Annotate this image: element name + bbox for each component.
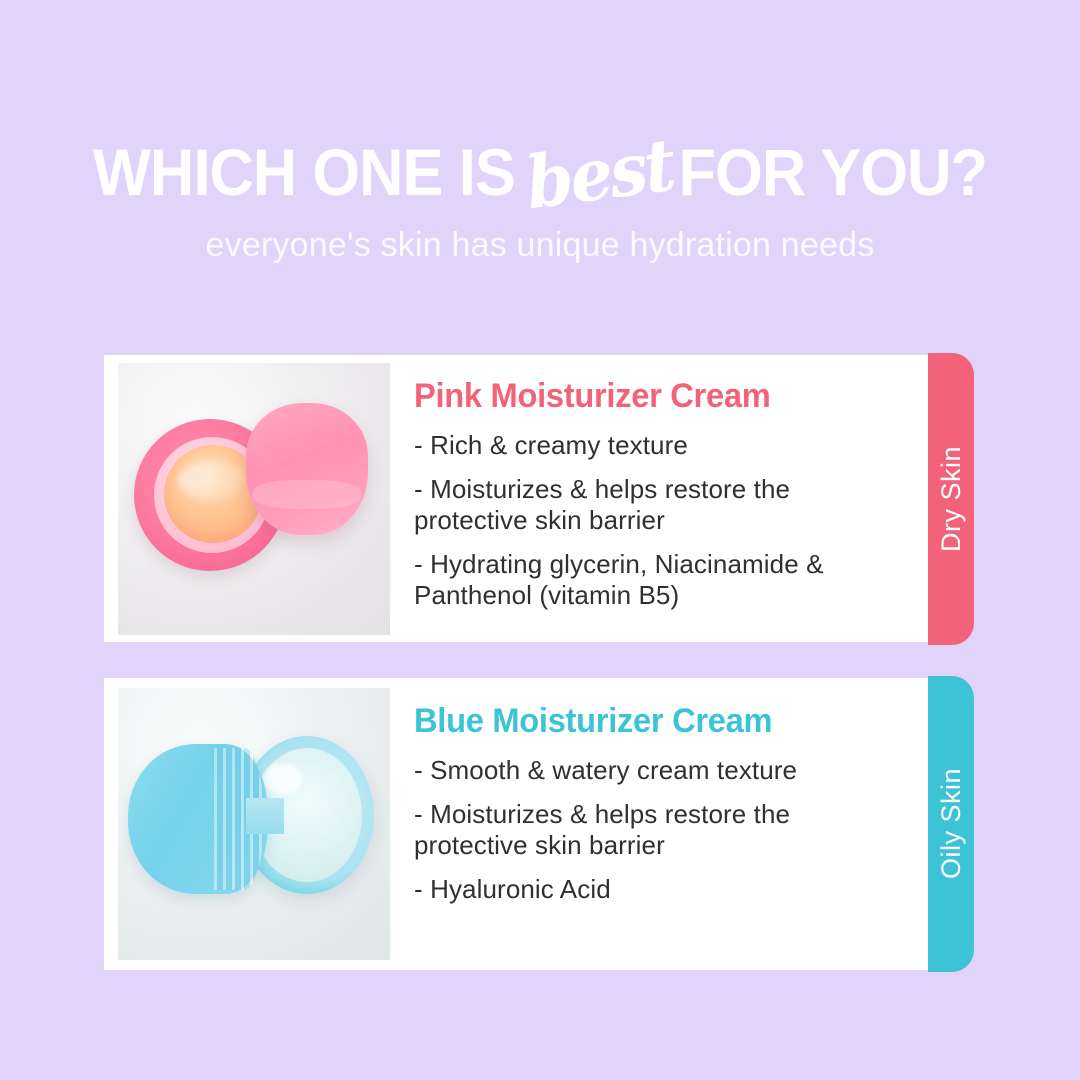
product-card-blue[interactable]: Blue Moisturizer Cream - Smooth & watery…	[104, 678, 934, 970]
headline-script-word: best	[522, 127, 676, 222]
product-benefits-pink: - Rich & creamy texture - Moisturizes & …	[414, 430, 894, 611]
blue-jar-neck-icon	[246, 798, 284, 834]
product-photo-pink	[118, 363, 390, 635]
headline-part2: FOR YOU?	[678, 134, 987, 210]
header: WHICH ONE ISbestFOR YOU? everyone's skin…	[0, 132, 1080, 265]
skin-type-tab-oily-label: Oily Skin	[936, 768, 967, 879]
product-details-pink: Pink Moisturizer Cream - Rich & creamy t…	[390, 355, 934, 611]
product-photo-blue	[118, 688, 390, 960]
skin-type-tab-dry[interactable]: Dry Skin	[928, 353, 974, 645]
headline-part1: WHICH ONE IS	[93, 134, 515, 210]
product-title-blue: Blue Moisturizer Cream	[414, 702, 875, 741]
skin-type-tab-oily[interactable]: Oily Skin	[928, 676, 974, 972]
list-item: - Smooth & watery cream texture	[414, 755, 894, 786]
product-details-blue: Blue Moisturizer Cream - Smooth & watery…	[390, 678, 934, 905]
product-card-pink[interactable]: Pink Moisturizer Cream - Rich & creamy t…	[104, 355, 934, 642]
page-headline: WHICH ONE ISbestFOR YOU?	[38, 132, 1042, 210]
page-subtitle: everyone's skin has unique hydration nee…	[0, 226, 1080, 265]
list-item: - Rich & creamy texture	[414, 430, 894, 461]
product-benefits-blue: - Smooth & watery cream texture - Moistu…	[414, 755, 894, 905]
skin-type-tab-dry-label: Dry Skin	[936, 446, 967, 552]
list-item: - Hyaluronic Acid	[414, 874, 894, 905]
product-title-pink: Pink Moisturizer Cream	[414, 377, 875, 416]
list-item: - Hydrating glycerin, Niacinamide & Pant…	[414, 549, 894, 611]
pink-jar-lid-icon	[246, 403, 368, 535]
list-item: - Moisturizes & helps restore the protec…	[414, 474, 894, 536]
list-item: - Moisturizes & helps restore the protec…	[414, 799, 894, 861]
